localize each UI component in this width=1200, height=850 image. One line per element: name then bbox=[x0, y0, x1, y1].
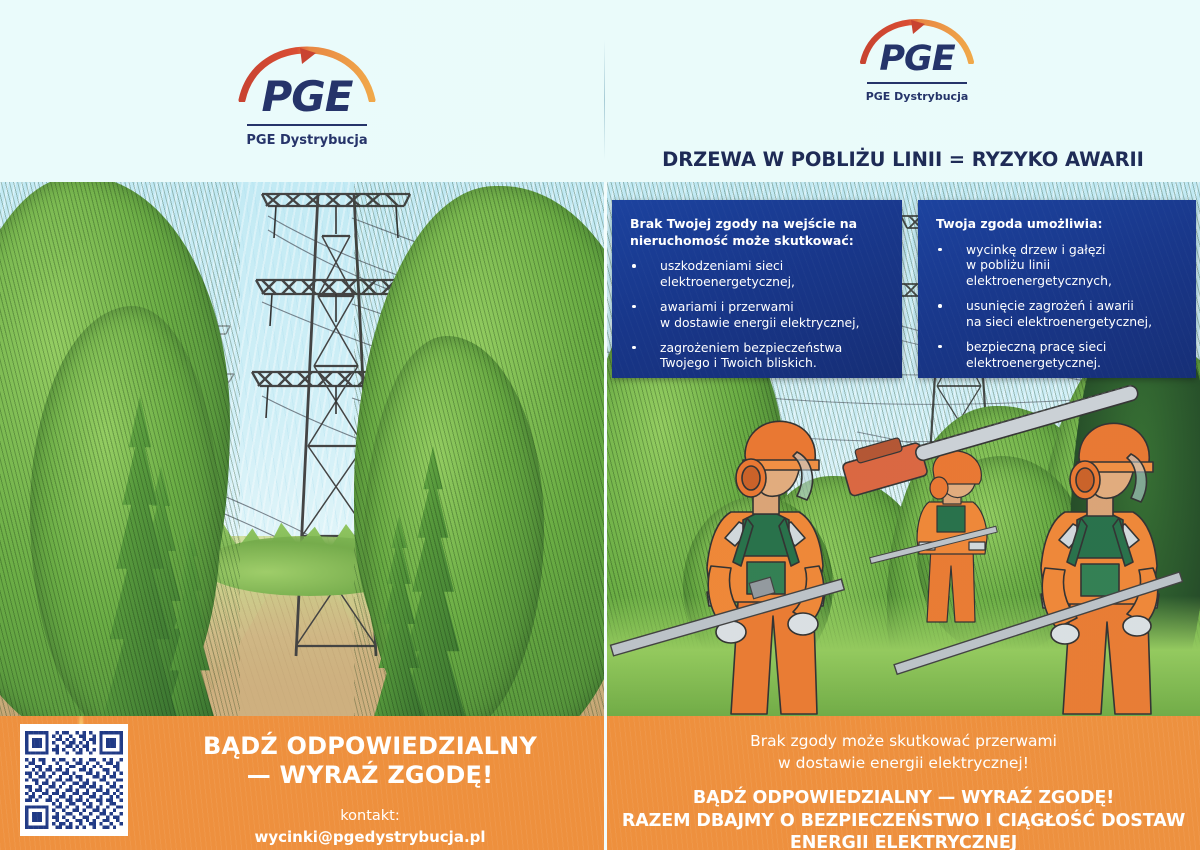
info-box-refusal-consequences: Brak Twojej zgody na wejście na nierucho… bbox=[612, 200, 902, 378]
info-box-list: uszkodzeniami sieci elektroenergetycznej… bbox=[612, 249, 902, 371]
footer-right: Brak zgody może skutkować przerwami w do… bbox=[607, 716, 1200, 850]
footer-right-text: Brak zgody może skutkować przerwami w do… bbox=[607, 730, 1200, 850]
list-item: bezpieczną pracę sieci elektroenergetycz… bbox=[936, 339, 1186, 371]
footer-right-callout: BĄDŹ ODPOWIEDZIALNY — WYRAŹ ZGODĘ! RAZEM… bbox=[607, 787, 1200, 850]
illustration-left bbox=[0, 182, 604, 716]
list-item: usunięcie zagrożeń i awarii na sieci ele… bbox=[936, 298, 1186, 330]
header-band: PGE PGE Dystrybucja bbox=[0, 0, 1200, 182]
forest-right-mass bbox=[354, 182, 604, 716]
footer-divider bbox=[604, 716, 607, 850]
fold-crease bbox=[604, 40, 605, 160]
info-box-list: wycinkę drzew i gałęzi w pobliżu linii e… bbox=[918, 233, 1196, 371]
contact-label: kontakt: bbox=[150, 807, 590, 827]
list-item: awariami i przerwami w dostawie energii … bbox=[630, 299, 892, 331]
info-box-title: Twoja zgoda umożliwia: bbox=[918, 200, 1196, 233]
footer-left-headline: BĄDŹ ODPOWIEDZIALNY — WYRAŹ ZGODĘ! bbox=[150, 732, 590, 791]
panel-divider bbox=[604, 182, 607, 716]
info-box-consent-benefits: Twoja zgoda umożliwia: wycinkę drzew i g… bbox=[918, 200, 1196, 378]
pole-saw-head bbox=[845, 402, 1175, 512]
footer-right-lead: Brak zgody może skutkować przerwami w do… bbox=[607, 730, 1200, 775]
logo-arc-left bbox=[232, 46, 382, 102]
logo-subtitle: PGE Dystrybucja bbox=[855, 90, 979, 103]
contact-email[interactable]: wycinki@pgedystrybucja.pl bbox=[150, 828, 590, 846]
page-headline: DRZEWA W POBLIŻU LINII = RYZYKO AWARII bbox=[606, 148, 1200, 171]
leaflet-page: PGE PGE Dystrybucja bbox=[0, 0, 1200, 850]
pge-logo-right: PGE PGE Dystrybucja bbox=[855, 18, 979, 103]
pge-logo-left: PGE PGE Dystrybucja bbox=[232, 46, 382, 148]
footer-left: BĄDŹ ODPOWIEDZIALNY — WYRAŹ ZGODĘ! konta… bbox=[0, 716, 604, 850]
logo-divider bbox=[867, 82, 967, 84]
logo-subtitle: PGE Dystrybucja bbox=[232, 133, 382, 148]
logo-divider bbox=[247, 124, 367, 126]
info-box-title: Brak Twojej zgody na wejście na nierucho… bbox=[612, 200, 902, 249]
logo-arc-right bbox=[855, 18, 979, 64]
list-item: uszkodzeniami sieci elektroenergetycznej… bbox=[630, 258, 892, 290]
list-item: zagrożeniem bezpieczeństwa Twojego i Two… bbox=[630, 340, 892, 372]
forest-left-mass bbox=[0, 182, 240, 716]
list-item: wycinkę drzew i gałęzi w pobliżu linii e… bbox=[936, 242, 1186, 290]
footer-left-text: BĄDŹ ODPOWIEDZIALNY — WYRAŹ ZGODĘ! konta… bbox=[150, 732, 590, 846]
qr-code[interactable] bbox=[20, 724, 128, 836]
